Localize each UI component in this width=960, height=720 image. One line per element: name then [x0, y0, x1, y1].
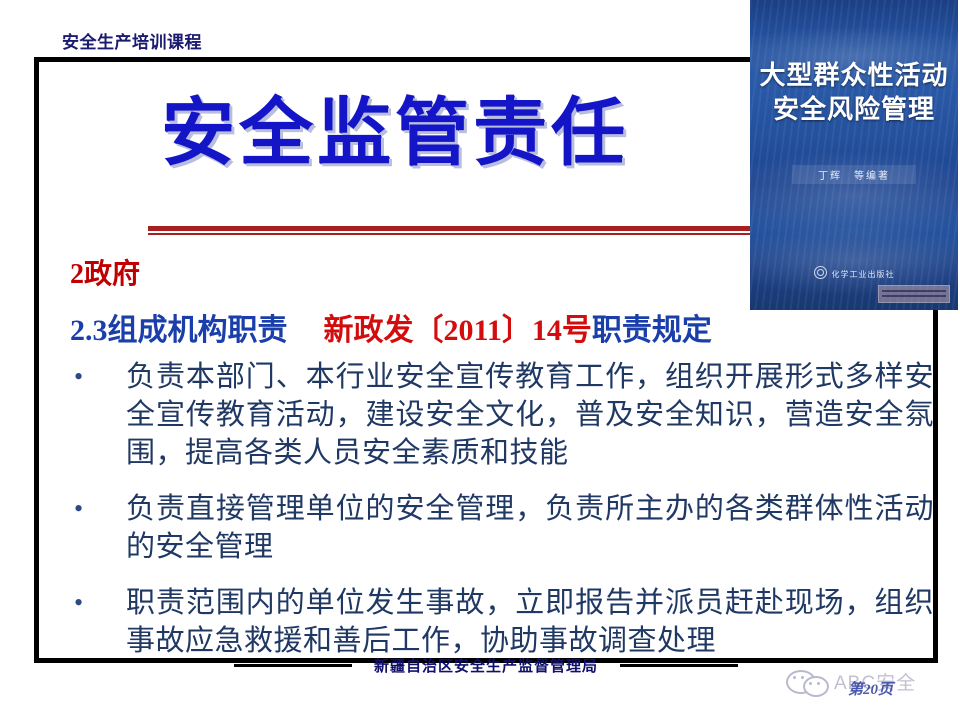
book-author: 丁辉 等编著 [750, 165, 958, 184]
list-item: • 负责本部门、本行业安全宣传教育工作，组织开展形式多样安全宣传教育活动，建设安… [62, 358, 934, 472]
wechat-bubble-small [803, 676, 829, 697]
book-title-line-2: 安全风险管理 [750, 92, 958, 126]
list-item-text: 负责直接管理单位的安全管理，负责所主办的各类群体性活动的安全管理 [126, 490, 934, 566]
list-item: • 负责直接管理单位的安全管理，负责所主办的各类群体性活动的安全管理 [62, 490, 934, 566]
book-cover-badge [878, 285, 950, 303]
bullet-marker-icon: • [62, 358, 126, 396]
rule-bar-thin [148, 233, 848, 235]
bullet-list: • 负责本部门、本行业安全宣传教育工作，组织开展形式多样安全宣传教育活动，建设安… [62, 358, 934, 678]
bullet-marker-icon: • [62, 490, 126, 528]
subsection-title: 2.3组成机构职责 [70, 314, 288, 347]
wechat-eye [809, 682, 812, 685]
document-reference-suffix: 职责规定 [592, 314, 712, 347]
publisher-logo-icon [814, 266, 827, 279]
footer-rule-left [234, 664, 352, 667]
wechat-eye [817, 682, 820, 685]
list-item-text: 负责本部门、本行业安全宣传教育工作，组织开展形式多样安全宣传教育活动，建设安全文… [126, 358, 934, 472]
footer-organization: 新疆自治区安全生产监督管理局 [374, 655, 598, 676]
page-title: 安全监管责任 [0, 96, 790, 174]
course-header-label: 安全生产培训课程 [62, 28, 202, 53]
book-cover-image: 大型群众性活动 安全风险管理 丁辉 等编著 化学工业出版社 [750, 0, 958, 310]
slide-canvas: 安全生产培训课程 安全监管责任 2政府 2.3组成机构职责新政发〔2011〕14… [0, 0, 960, 720]
list-item-text: 职责范围内的单位发生事故，立即报告并派员赶赴现场，组织事故应急救援和善后工作，协… [126, 584, 934, 660]
wechat-eye [793, 676, 796, 679]
wechat-icon [786, 668, 830, 694]
badge-line [882, 290, 946, 292]
book-author-text: 丁辉 等编著 [792, 165, 916, 184]
rule-bar-thick [148, 226, 848, 231]
section-heading: 2政府 [70, 252, 140, 292]
subsection-heading: 2.3组成机构职责新政发〔2011〕14号职责规定 [70, 305, 712, 349]
badge-line [882, 295, 946, 297]
title-underline-rule [148, 226, 848, 235]
page-number: 第20页 [848, 678, 893, 699]
document-reference: 新政发〔2011〕14号 [324, 314, 592, 347]
footer-rule-right [620, 664, 738, 667]
book-title: 大型群众性活动 安全风险管理 [750, 58, 958, 127]
book-title-line-1: 大型群众性活动 [750, 58, 958, 92]
book-publisher-text: 化学工业出版社 [832, 270, 895, 279]
bullet-marker-icon: • [62, 584, 126, 622]
wechat-eye [801, 676, 804, 679]
list-item: • 职责范围内的单位发生事故，立即报告并派员赶赴现场，组织事故应急救援和善后工作… [62, 584, 934, 660]
book-publisher: 化学工业出版社 [750, 266, 958, 280]
